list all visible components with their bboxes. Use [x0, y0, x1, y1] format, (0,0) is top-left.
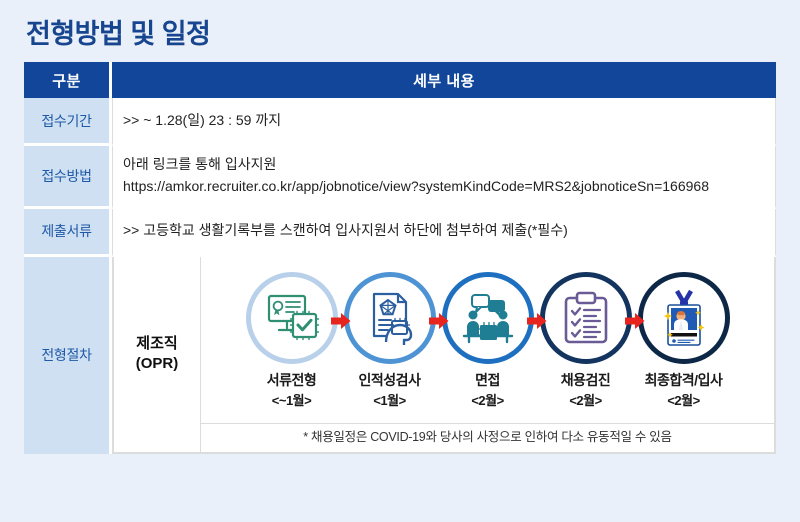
process-step-document-screening: 서류전형 <~1월>	[244, 272, 340, 412]
job-group-label: 제조직 (OPR)	[114, 257, 201, 452]
table-row-selection-process: 전형절차 제조직 (OPR)	[24, 257, 776, 454]
process-step-health-checkup: 채용검진 <2월>	[538, 272, 634, 412]
table-row-required-documents: 제출서류 >> 고등학교 생활기록부를 스캔하여 입사지원서 하단에 첨부하여 …	[24, 209, 776, 257]
job-group-name: 제조직	[136, 334, 177, 354]
row-label-selection-process: 전형절차	[24, 257, 112, 454]
process-step-aptitude-test: 인적성검사 <1월>	[342, 272, 438, 412]
row-value-selection-process: 제조직 (OPR)	[112, 257, 776, 454]
step-circle-2	[344, 272, 436, 364]
step-circle-1	[246, 272, 338, 364]
row-value-application-period: >> ~ 1.28(일) 23 : 59 까지	[112, 98, 776, 146]
column-header-detail: 세부 내용	[112, 62, 776, 98]
step-label-2: 인적성검사	[359, 372, 421, 390]
table-row-application-method: 접수방법 아래 링크를 통해 입사지원 https://amkor.recrui…	[24, 146, 776, 208]
id-badge-icon	[659, 289, 709, 347]
step-period-3: <2월>	[471, 391, 503, 411]
aptitude-test-profile-icon	[362, 291, 418, 345]
application-method-text: 아래 링크를 통해 입사지원	[123, 154, 765, 176]
step-period-2: <1월>	[373, 391, 405, 411]
process-diagram: 제조직 (OPR)	[113, 257, 775, 453]
row-label-required-documents: 제출서류	[24, 209, 112, 257]
monitor-document-check-icon	[263, 292, 321, 344]
step-label-5: 최종합격/입사	[645, 372, 723, 390]
step-period-1: <~1월>	[272, 391, 311, 411]
application-period-text: >> ~ 1.28(일) 23 : 59 까지	[123, 110, 765, 132]
arrow-icon-1	[330, 312, 352, 330]
process-footnote: * 채용일정은 COVID-19와 당사의 사정으로 인하여 다소 유동적일 수…	[201, 423, 774, 452]
table-header-row: 구분 세부 내용	[24, 62, 776, 98]
arrow-icon-3	[526, 312, 548, 330]
step-circle-3	[442, 272, 534, 364]
interview-people-icon	[459, 292, 517, 344]
clipboard-checklist-icon	[562, 291, 610, 345]
required-documents-text: >> 고등학교 생활기록부를 스캔하여 입사지원서 하단에 첨부하여 제출(*필…	[123, 220, 765, 242]
arrow-icon-2	[428, 312, 450, 330]
row-label-application-method: 접수방법	[24, 146, 112, 208]
process-step-final-hire: 최종합격/입사 <2월>	[636, 272, 732, 412]
step-label-1: 서류전형	[267, 372, 317, 390]
row-value-application-method: 아래 링크를 통해 입사지원 https://amkor.recruiter.c…	[112, 146, 776, 208]
arrow-icon-4	[624, 312, 646, 330]
step-label-4: 채용검진	[561, 372, 611, 390]
step-period-5: <2월>	[667, 391, 699, 411]
page-title: 전형방법 및 일정	[26, 0, 776, 62]
application-url-link[interactable]: https://amkor.recruiter.co.kr/app/jobnot…	[123, 176, 765, 198]
table-row-application-period: 접수기간 >> ~ 1.28(일) 23 : 59 까지	[24, 98, 776, 146]
job-group-code: (OPR)	[136, 354, 179, 374]
row-value-required-documents: >> 고등학교 생활기록부를 스캔하여 입사지원서 하단에 첨부하여 제출(*필…	[112, 209, 776, 257]
process-step-interview: 면접 <2월>	[440, 272, 536, 412]
row-label-application-period: 접수기간	[24, 98, 112, 146]
process-steps: 서류전형 <~1월>	[201, 257, 774, 423]
document-page: 전형방법 및 일정 구분 세부 내용 접수기간 >> ~ 1.28(일) 23 …	[0, 0, 800, 522]
recruitment-info-table: 구분 세부 내용 접수기간 >> ~ 1.28(일) 23 : 59 까지 접수…	[24, 62, 776, 453]
step-circle-5	[638, 272, 730, 364]
step-period-4: <2월>	[569, 391, 601, 411]
column-header-category: 구분	[24, 62, 112, 98]
step-circle-4	[540, 272, 632, 364]
step-label-3: 면접	[475, 372, 500, 390]
process-main: 서류전형 <~1월>	[201, 257, 774, 452]
